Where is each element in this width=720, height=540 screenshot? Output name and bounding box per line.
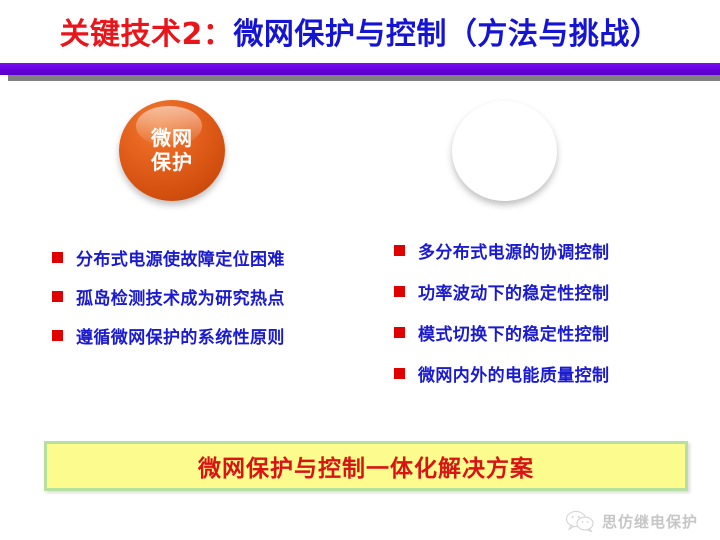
slide-canvas: 关键技术2：微网保护与控制（方法与挑战） 微网 保护 微网 控制 分布式电源使故…	[0, 0, 720, 540]
list-item-label: 微网内外的电能质量控制	[418, 361, 609, 386]
title-prefix: 关键技术2：	[60, 17, 234, 52]
list-item-label: 遵循微网保护的系统性原则	[76, 323, 285, 348]
list-item: 孤岛检测技术成为研究热点	[52, 284, 285, 309]
list-item-label: 功率波动下的稳定性控制	[418, 279, 609, 304]
list-item: 模式切换下的稳定性控制	[394, 320, 609, 345]
sphere-label-line2: 控制	[484, 151, 526, 175]
conclusion-callout: 微网保护与控制一体化解决方案	[44, 441, 688, 491]
title-main: 微网保护与控制（方法与挑战）	[233, 17, 660, 52]
sphere-label-line1: 微网	[484, 127, 526, 151]
square-bullet-icon	[394, 245, 405, 256]
bullet-list-control: 多分布式电源的协调控制 功率波动下的稳定性控制 模式切换下的稳定性控制 微网内外…	[394, 238, 609, 402]
bullet-list-protection: 分布式电源使故障定位困难 孤岛检测技术成为研究热点 遵循微网保护的系统性原则	[52, 245, 285, 362]
divider-shadow	[8, 74, 720, 81]
sphere-label-line2: 保护	[151, 151, 193, 175]
wechat-icon	[565, 510, 595, 532]
conclusion-label: 微网保护与控制一体化解决方案	[198, 449, 534, 483]
list-item: 功率波动下的稳定性控制	[394, 279, 609, 304]
square-bullet-icon	[394, 368, 405, 379]
list-item: 多分布式电源的协调控制	[394, 238, 609, 263]
square-bullet-icon	[394, 286, 405, 297]
list-item: 分布式电源使故障定位困难	[52, 245, 285, 270]
square-bullet-icon	[52, 291, 63, 302]
sphere-microgrid-control: 微网 控制	[452, 101, 557, 201]
list-item-label: 孤岛检测技术成为研究热点	[76, 284, 285, 309]
watermark-label: 思仿继电保护	[602, 511, 698, 532]
list-item-label: 分布式电源使故障定位困难	[76, 245, 285, 270]
watermark: 思仿继电保护	[565, 510, 698, 532]
list-item-label: 多分布式电源的协调控制	[418, 238, 609, 263]
page-title: 关键技术2：微网保护与控制（方法与挑战）	[0, 18, 720, 51]
list-item: 遵循微网保护的系统性原则	[52, 323, 285, 348]
list-item-label: 模式切换下的稳定性控制	[418, 320, 609, 345]
square-bullet-icon	[394, 327, 405, 338]
divider-bar	[0, 63, 720, 75]
square-bullet-icon	[52, 330, 63, 341]
sphere-label-line1: 微网	[151, 127, 193, 151]
square-bullet-icon	[52, 252, 63, 263]
list-item: 微网内外的电能质量控制	[394, 361, 609, 386]
sphere-microgrid-protection: 微网 保护	[119, 100, 225, 201]
